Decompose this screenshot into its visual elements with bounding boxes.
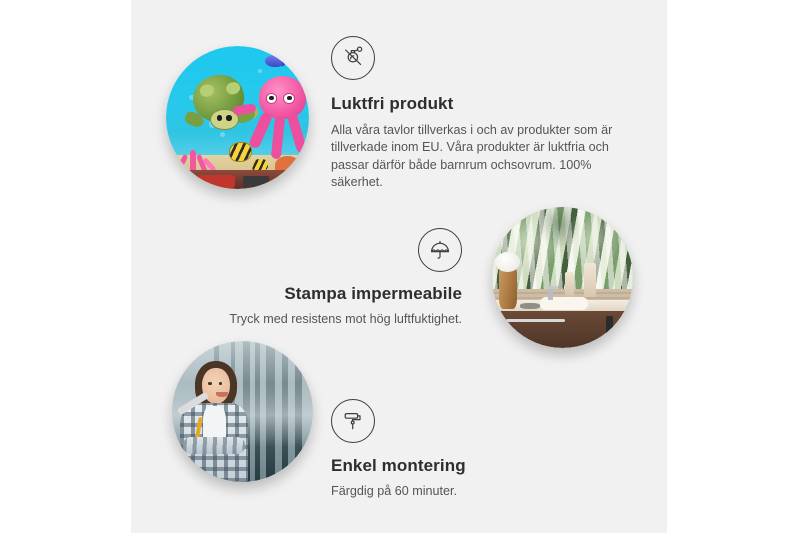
octopus-eye bbox=[283, 93, 295, 104]
sink-basin bbox=[540, 297, 588, 310]
faucet-icon bbox=[548, 286, 552, 300]
bottle bbox=[584, 263, 597, 297]
blue-fish-icon bbox=[265, 55, 285, 68]
underwater-artwork-image bbox=[166, 46, 309, 189]
sea-background bbox=[166, 46, 309, 189]
woman-crossed-arms bbox=[183, 437, 245, 454]
framed-print-edge bbox=[166, 170, 309, 189]
feature-description: Alla våra tavlor tillverkas i och av pro… bbox=[331, 122, 623, 192]
feature-waterproof-print: Stampa impermeabile Tryck med resistens … bbox=[212, 228, 462, 328]
bathroom-image bbox=[492, 207, 633, 348]
feature-title: Enkel montering bbox=[331, 456, 591, 476]
underwater-kids-artwork-photo bbox=[166, 46, 309, 189]
wooden-vanity-cabinet bbox=[492, 311, 633, 348]
feature-easy-installation: Enkel montering Färgdig på 60 minuter. bbox=[331, 399, 591, 500]
feature-description: Färgdig på 60 minuter. bbox=[331, 483, 591, 500]
bathroom-scene bbox=[492, 207, 633, 348]
feature-odour-free: Luktfri produkt Alla våra tavlor tillver… bbox=[331, 36, 631, 192]
bathroom-tropical-wallpaper-photo bbox=[492, 207, 633, 348]
bottle bbox=[565, 272, 573, 297]
feature-title: Stampa impermeabile bbox=[212, 284, 462, 304]
no-perfume-icon bbox=[331, 36, 375, 80]
forest-woman-image bbox=[172, 341, 313, 482]
forest-scene bbox=[172, 341, 313, 482]
product-feature-infographic: Luktfri produkt Alla våra tavlor tillver… bbox=[0, 0, 800, 533]
octopus-tentacle bbox=[271, 116, 285, 160]
octopus-eye bbox=[266, 93, 278, 104]
umbrella-icon bbox=[418, 228, 462, 272]
white-flower bbox=[495, 252, 520, 272]
octopus-tentacle bbox=[287, 113, 308, 154]
bubble-icon bbox=[220, 132, 225, 137]
striped-fish-icon bbox=[229, 142, 252, 162]
vase bbox=[499, 269, 517, 308]
feature-description: Tryck med resistens mot hög luftfuktighe… bbox=[212, 311, 462, 328]
feature-title: Luktfri produkt bbox=[331, 94, 631, 114]
bubble-icon bbox=[258, 69, 262, 73]
woman-with-paint-roller-forest-photo bbox=[172, 341, 313, 482]
soap-tray bbox=[520, 303, 540, 309]
paint-roller-icon bbox=[331, 399, 375, 443]
